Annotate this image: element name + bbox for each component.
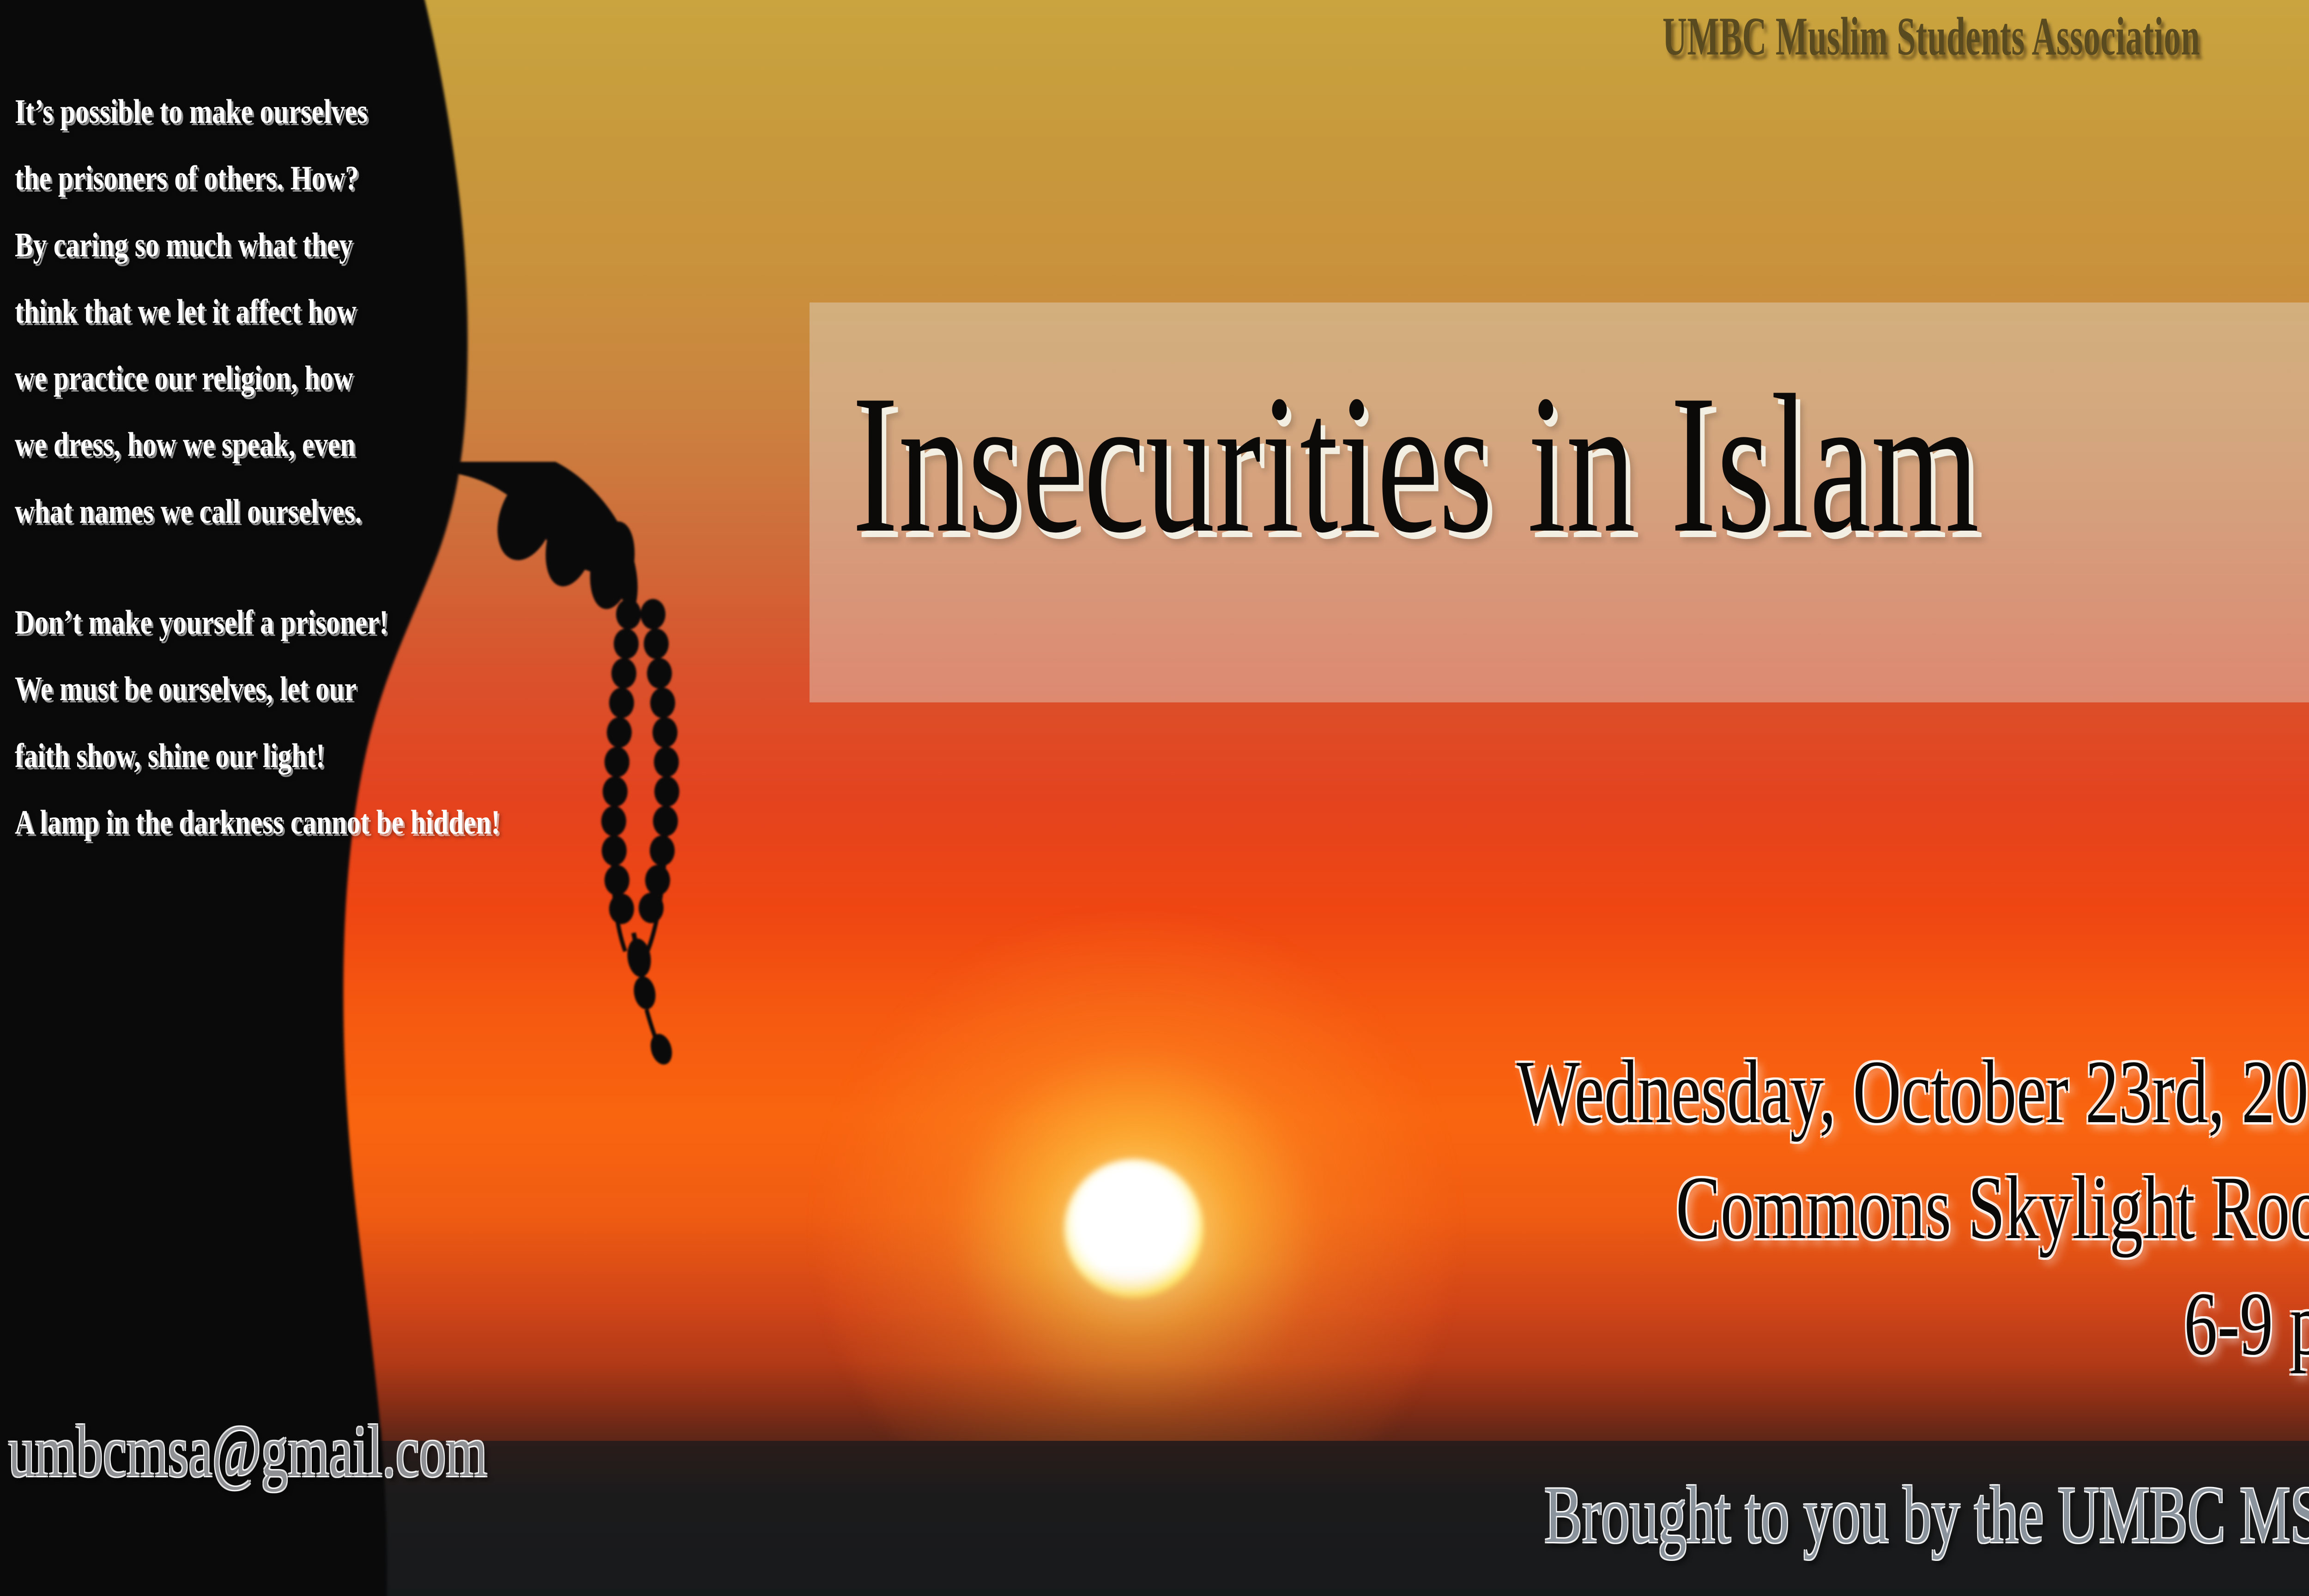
footer-credit: Brought to you by the UMBC MSA. (1544, 1469, 2309, 1562)
event-details-block: Wednesday, October 23rd, 2013 Commons Sk… (898, 1034, 2309, 1382)
poem-line: what names we call ourselves. (15, 493, 362, 531)
poem-line: By caring so much what they (15, 226, 353, 264)
poem-line: the prisoners of others. How? (15, 159, 359, 197)
poem-line: It’s possible to make ourselves (15, 93, 368, 131)
poem-line: faith show, shine our light! (15, 737, 325, 775)
event-location: Commons Skylight Room (1282, 1150, 2309, 1266)
contact-email[interactable]: umbcmsa@gmail.com (8, 1409, 487, 1494)
poem-line: A lamp in the darkness cannot be hidden! (15, 804, 500, 841)
poem-line: think that we let it affect how (15, 293, 357, 331)
organization-name: UMBC Muslim Students Association (1662, 6, 2200, 66)
event-title: Insecurities in Islam (852, 365, 1979, 563)
event-date: Wednesday, October 23rd, 2013 (1282, 1034, 2309, 1150)
event-time: 6-9 pm (1282, 1266, 2309, 1382)
poem-line: Don’t make yourself a prisoner! (15, 604, 388, 641)
prayer-beads-silhouette (453, 462, 776, 1108)
poster-canvas: UMBC Muslim Students Association It’s po… (0, 0, 2309, 1596)
stanza-gap (15, 545, 495, 589)
poem-line: We must be ourselves, let our (15, 670, 357, 708)
poem-line: we dress, how we speak, even (15, 426, 355, 464)
poem-text-block: It’s possible to make ourselves the pris… (15, 79, 495, 856)
poem-line: we practice our religion, how (15, 359, 353, 397)
